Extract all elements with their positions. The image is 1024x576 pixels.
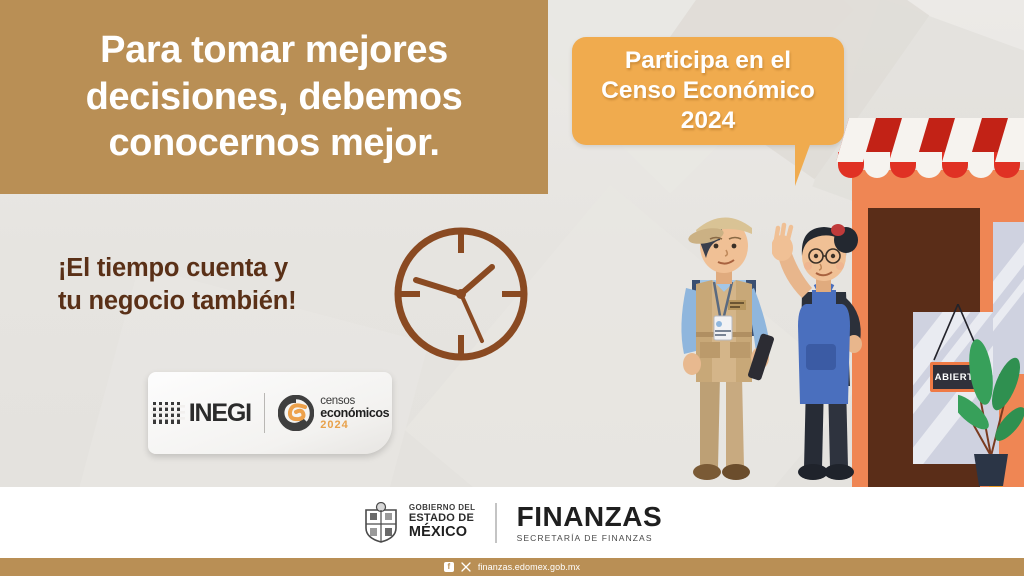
awning-stripes bbox=[836, 118, 1024, 164]
poster-canvas: Para tomar mejores decisiones, debemos c… bbox=[0, 0, 1024, 576]
finanzas-subtitle: SECRETARÍA DE FINANZAS bbox=[517, 534, 663, 543]
bubble-line-1: Participa en el bbox=[601, 46, 815, 76]
clock-icon bbox=[386, 219, 536, 369]
tagline-line-2: tu negocio también! bbox=[58, 285, 388, 318]
coat-of-arms-icon bbox=[362, 502, 400, 544]
finanzas-title: FINANZAS bbox=[517, 503, 663, 531]
footer-logos: GOBIERNO DEL ESTADO DE MÉXICO FINANZAS S… bbox=[0, 487, 1024, 558]
gobierno-logo: GOBIERNO DEL ESTADO DE MÉXICO bbox=[362, 502, 476, 544]
website-url[interactable]: finanzas.edomex.gob.mx bbox=[478, 562, 580, 572]
speech-bubble: Participa en el Censo Económico 2024 bbox=[572, 37, 844, 145]
bubble-line-2: Censo Económico bbox=[601, 76, 815, 106]
footer-divider bbox=[495, 503, 496, 543]
speech-bubble-text: Participa en el Censo Económico 2024 bbox=[591, 46, 825, 136]
x-twitter-icon[interactable] bbox=[461, 562, 471, 572]
census-worker-character bbox=[662, 196, 782, 488]
facebook-icon[interactable]: f bbox=[444, 562, 454, 572]
potted-plant bbox=[958, 326, 1024, 488]
tagline: ¡El tiempo cuenta y tu negocio también! bbox=[58, 252, 388, 318]
censos-year: 2024 bbox=[320, 420, 389, 431]
facebook-glyph: f bbox=[448, 563, 451, 571]
card-divider bbox=[264, 393, 265, 433]
shop-owner-character bbox=[772, 214, 876, 488]
gobierno-line-3: MÉXICO bbox=[409, 525, 476, 541]
finanzas-logo: FINANZAS SECRETARÍA DE FINANZAS bbox=[517, 503, 663, 543]
inegi-logo: INEGI bbox=[151, 399, 251, 428]
awning bbox=[836, 118, 1024, 178]
gobierno-text: GOBIERNO DEL ESTADO DE MÉXICO bbox=[409, 504, 476, 540]
social-bar: f finanzas.edomex.gob.mx bbox=[0, 558, 1024, 576]
speech-bubble-tail bbox=[795, 142, 833, 186]
headline-banner: Para tomar mejores decisiones, debemos c… bbox=[0, 0, 548, 194]
economicos-label: económicos bbox=[320, 407, 389, 420]
headline-text: Para tomar mejores decisiones, debemos c… bbox=[0, 27, 548, 166]
censos-text: censos económicos 2024 bbox=[320, 396, 389, 431]
inegi-abacus-icon bbox=[151, 400, 185, 426]
bubble-line-3: 2024 bbox=[601, 106, 815, 136]
inegi-logo-card: INEGI censos económicos 2024 bbox=[148, 372, 392, 454]
tagline-line-1: ¡El tiempo cuenta y bbox=[58, 252, 388, 285]
censos-swirl-icon bbox=[278, 395, 314, 431]
censos-economicos-logo: censos económicos 2024 bbox=[278, 395, 389, 431]
inegi-wordmark: INEGI bbox=[189, 399, 251, 428]
